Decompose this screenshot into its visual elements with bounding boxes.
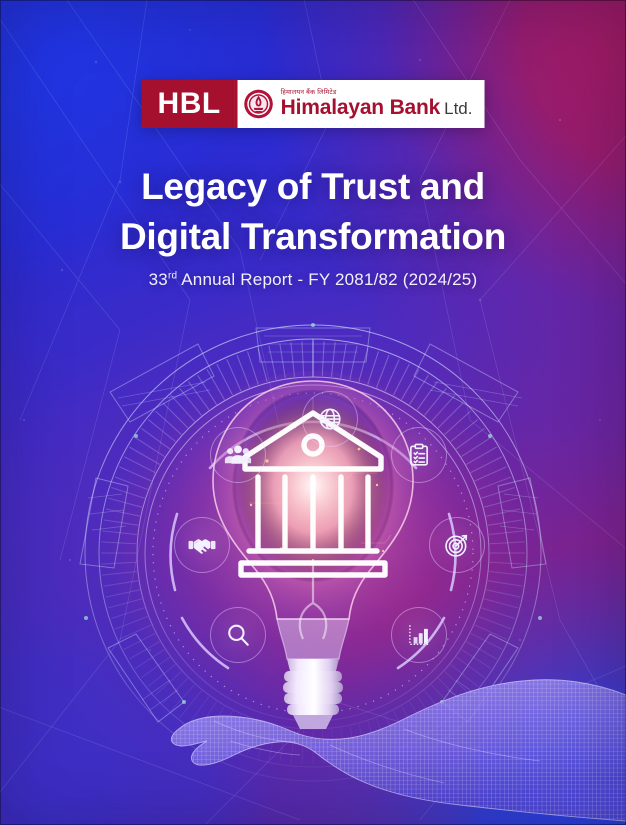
node-handshake [174,517,230,573]
node-clipboard [391,427,447,483]
subtitle-rest: Annual Report - FY 2081/82 (2024/25) [177,270,477,289]
cover-title-line1: Legacy of Trust and [141,166,485,207]
subtitle-ordinal: rd [168,270,177,281]
logo-name: Himalayan Bank Ltd. [281,97,473,118]
logo-name-bold: Himalayan Bank [281,97,440,118]
node-globe [302,391,358,447]
bank-logo: HBL [142,80,485,128]
logo-name-light: Ltd. [444,100,472,117]
logo-abbreviation: HBL [142,80,235,128]
wireframe-hand-graphic [0,625,626,825]
himalayan-bank-emblem-icon [244,89,274,119]
handshake-icon [188,531,216,559]
cover-title: Legacy of Trust and Digital Transformati… [0,162,626,261]
logo-wordmark-block: हिमालयन बैंक लिमिटेड Himalayan Bank Ltd. [235,80,485,128]
node-target [429,517,485,573]
globe-icon [317,406,343,432]
node-people [210,427,266,483]
people-group-icon [224,441,252,469]
target-icon [443,531,471,559]
logo-text-block: हिमालयन बैंक लिमिटेड Himalayan Bank Ltd. [281,90,473,119]
cover-subtitle: 33rd Annual Report - FY 2081/82 (2024/25… [0,270,626,290]
clipboard-icon [406,442,432,468]
cover-title-line2: Digital Transformation [0,212,626,262]
report-cover-page: HBL [0,0,626,825]
subtitle-number: 33 [149,270,168,289]
